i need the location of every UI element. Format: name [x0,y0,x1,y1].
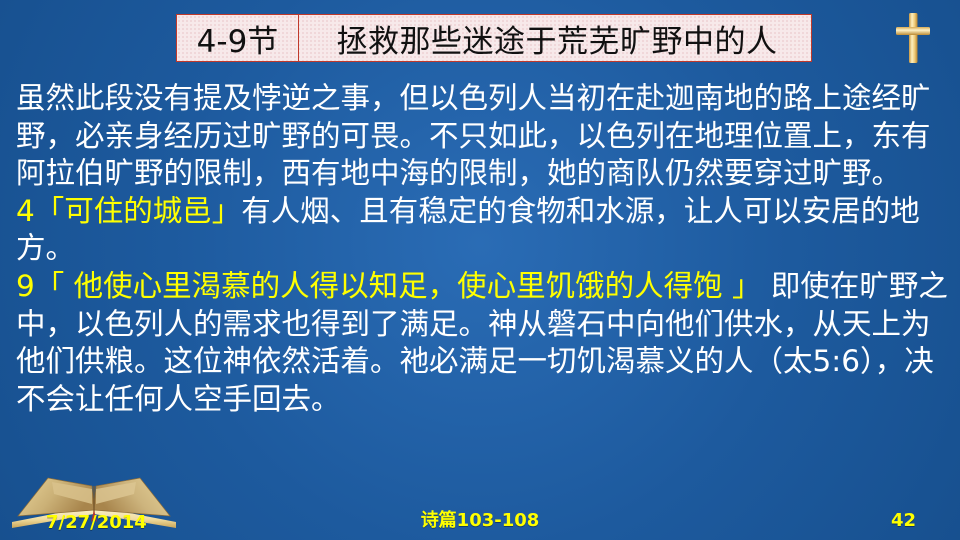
cross-icon [890,8,936,66]
text-run: 虽然此段没有提及悖逆之事，但以色列人当初在赴迦南地的路上途经旷野，必亲身经历过旷… [16,81,931,190]
page-title: 拯救那些迷途于荒芜旷野中的人 [299,15,811,61]
verse-9-quote: 9「 他使心里渴慕的人得以知足，使心里饥饿的人得饱 」 [16,269,762,303]
slide-canvas: 4-9节 拯救那些迷途于荒芜旷野中的人 虽然此段没有提及悖逆之事，但以色列人当初… [0,0,960,540]
slide-body: 虽然此段没有提及悖逆之事，但以色列人当初在赴迦南地的路上途经旷野，必亲身经历过旷… [16,80,950,418]
title-verse-range: 4-9节 [177,15,299,61]
paragraph-verse-9: 9「 他使心里渴慕的人得以知足，使心里饥饿的人得饱 」 即使在旷野之中，以色列人… [16,268,950,418]
footer-scripture-reference: 诗篇103-108 [0,510,960,532]
verse-4-quote: 4「可住的城邑」 [16,194,241,228]
footer-page-number: 42 [891,510,916,532]
slide-footer: 7/27/2014 诗篇103-108 42 [0,508,960,536]
title-banner: 4-9节 拯救那些迷途于荒芜旷野中的人 [176,14,812,62]
paragraph-intro: 虽然此段没有提及悖逆之事，但以色列人当初在赴迦南地的路上途经旷野，必亲身经历过旷… [16,80,950,193]
paragraph-verse-4: 4「可住的城邑」有人烟、且有稳定的食物和水源，让人可以安居的地方。 [16,193,950,268]
